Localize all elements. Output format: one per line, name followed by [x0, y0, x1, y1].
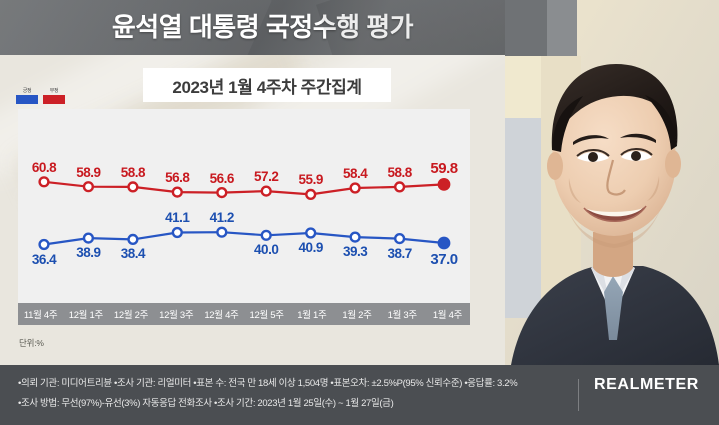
x-axis-tick: 12월 1주 [63, 303, 108, 325]
chart-value-label: 37.0 [430, 251, 457, 268]
page-title: 윤석열 대통령 국정수행 평가 [0, 0, 525, 55]
footer-text-block: •의뢰 기관: 미디어트리뷴 •조사 기관: 리얼미터 •표본 수: 전국 만 … [18, 374, 578, 414]
chart-line-positive [44, 232, 444, 244]
chart-unit-note: 단위:% [19, 337, 44, 349]
x-axis-tick: 11월 4주 [18, 303, 63, 325]
chart-value-label: 57.2 [254, 169, 278, 184]
footer-line-2: •조사 방법: 무선(97%)-유선(3%) 자동응답 전화조사 •조사 기간:… [18, 394, 578, 414]
chart-point [40, 177, 49, 186]
footer-divider [578, 379, 579, 411]
chart-value-label: 56.6 [210, 171, 234, 186]
chart-value-label: 56.8 [165, 170, 189, 185]
x-axis-tick: 1월 2주 [334, 303, 379, 325]
realmeter-logo: REALMETER [594, 376, 699, 394]
footer-bar: •의뢰 기관: 미디어트리뷴 •조사 기관: 리얼미터 •표본 수: 전국 만 … [0, 365, 719, 425]
chart-plot-area: 60.858.958.856.856.657.255.958.458.859.8… [18, 109, 470, 303]
chart-point [306, 190, 315, 199]
chart-value-label: 40.9 [299, 240, 323, 255]
chart-value-label: 55.9 [299, 172, 323, 187]
subtitle-text: 2023년 1월 4주차 주간집계 [172, 73, 361, 98]
chart-point [173, 188, 182, 197]
chart-point [217, 228, 226, 237]
chart-x-axis: 11월 4주12월 1주12월 2주12월 3주12월 4주12월 5주1월 1… [18, 303, 470, 325]
legend-swatch-positive [16, 95, 38, 104]
chart-point [84, 182, 93, 191]
chart-value-label: 58.9 [76, 165, 100, 180]
x-axis-tick: 1월 4주 [425, 303, 470, 325]
x-axis-tick: 12월 5주 [244, 303, 289, 325]
chart-line-negative [44, 182, 444, 195]
chart-point [217, 188, 226, 197]
x-axis-tick: 12월 2주 [108, 303, 153, 325]
chart-value-label: 38.4 [121, 246, 145, 261]
chart-point [129, 183, 138, 192]
chart-value-label: 39.3 [343, 244, 367, 259]
chart-point [173, 228, 182, 237]
chart-point [262, 187, 271, 196]
chart-value-label: 59.8 [430, 160, 457, 177]
legend-label-negative: 부정 [43, 88, 65, 94]
chart-point [438, 179, 449, 190]
chart-value-label: 38.7 [387, 246, 411, 261]
chart-point [262, 231, 271, 240]
chart-value-label: 58.8 [387, 165, 411, 180]
chart-value-label: 38.9 [76, 245, 100, 260]
x-axis-tick: 12월 4주 [199, 303, 244, 325]
chart-value-label: 41.1 [165, 210, 189, 225]
chart-lines-svg [18, 109, 470, 303]
subtitle-box: 2023년 1월 4주차 주간집계 [143, 68, 391, 102]
chart-value-label: 36.4 [32, 252, 56, 267]
chart-point [40, 240, 49, 249]
chart-point [395, 234, 404, 243]
chart-point [351, 184, 360, 193]
chart-value-label: 58.8 [121, 165, 145, 180]
chart-point [84, 234, 93, 243]
chart-value-label: 41.2 [210, 210, 234, 225]
footer-line-1: •의뢰 기관: 미디어트리뷴 •조사 기관: 리얼미터 •표본 수: 전국 만 … [18, 374, 578, 394]
chart-point [351, 233, 360, 242]
legend-item-negative: 부정 [43, 88, 65, 104]
chart-value-label: 58.4 [343, 166, 367, 181]
chart-value-label: 60.8 [32, 160, 56, 175]
legend-swatch-negative [43, 95, 65, 104]
president-portrait [505, 0, 719, 365]
legend-label-positive: 긍정 [16, 88, 38, 94]
chart-point [438, 237, 449, 248]
poll-graphic-root: 윤석열 대통령 국정수행 평가 2023년 1월 4주차 주간집계 긍정 부정 … [0, 0, 719, 425]
portrait-photo [505, 0, 719, 365]
legend-item-positive: 긍정 [16, 88, 38, 104]
chart-point [129, 235, 138, 244]
chart-point [306, 229, 315, 238]
chart-point [395, 183, 404, 192]
x-axis-tick: 1월 3주 [380, 303, 425, 325]
chart-value-label: 40.0 [254, 242, 278, 257]
x-axis-tick: 12월 3주 [154, 303, 199, 325]
chart-legend: 긍정 부정 [16, 88, 65, 104]
x-axis-tick: 1월 1주 [289, 303, 334, 325]
